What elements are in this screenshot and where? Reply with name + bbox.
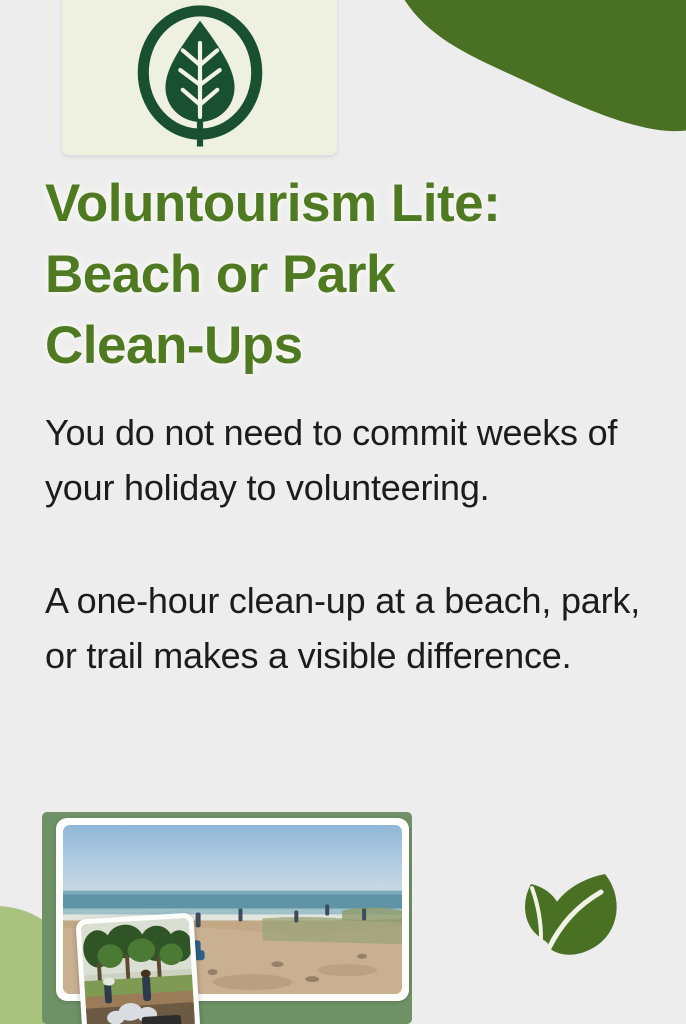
park-cleanup-photo — [81, 918, 196, 1024]
body-copy: You do not need to commit weeks of your … — [45, 405, 653, 684]
page-title: Voluntourism Lite: Beach or Park Clean-U… — [45, 168, 655, 381]
two-leaf-accent-icon — [505, 862, 637, 966]
organic-green-blob-icon — [390, 0, 686, 186]
photo-collage — [42, 812, 412, 1024]
brand-logo-card — [62, 0, 337, 155]
page-title-line-1: Voluntourism Lite: — [45, 174, 500, 233]
poster-canvas: Voluntourism Lite: Beach or Park Clean-U… — [0, 0, 686, 1024]
park-cleanup-photo-frame — [75, 913, 200, 1024]
page-title-line-3: Clean-Ups — [45, 316, 303, 375]
paragraph-spacer — [45, 516, 653, 573]
page-title-line-2: Beach or Park — [45, 245, 395, 304]
body-paragraph-2: A one-hour clean-up at a beach, park, or… — [45, 573, 653, 684]
leaf-in-oval-logo-icon — [126, 1, 274, 149]
body-paragraph-1: You do not need to commit weeks of your … — [45, 405, 653, 516]
